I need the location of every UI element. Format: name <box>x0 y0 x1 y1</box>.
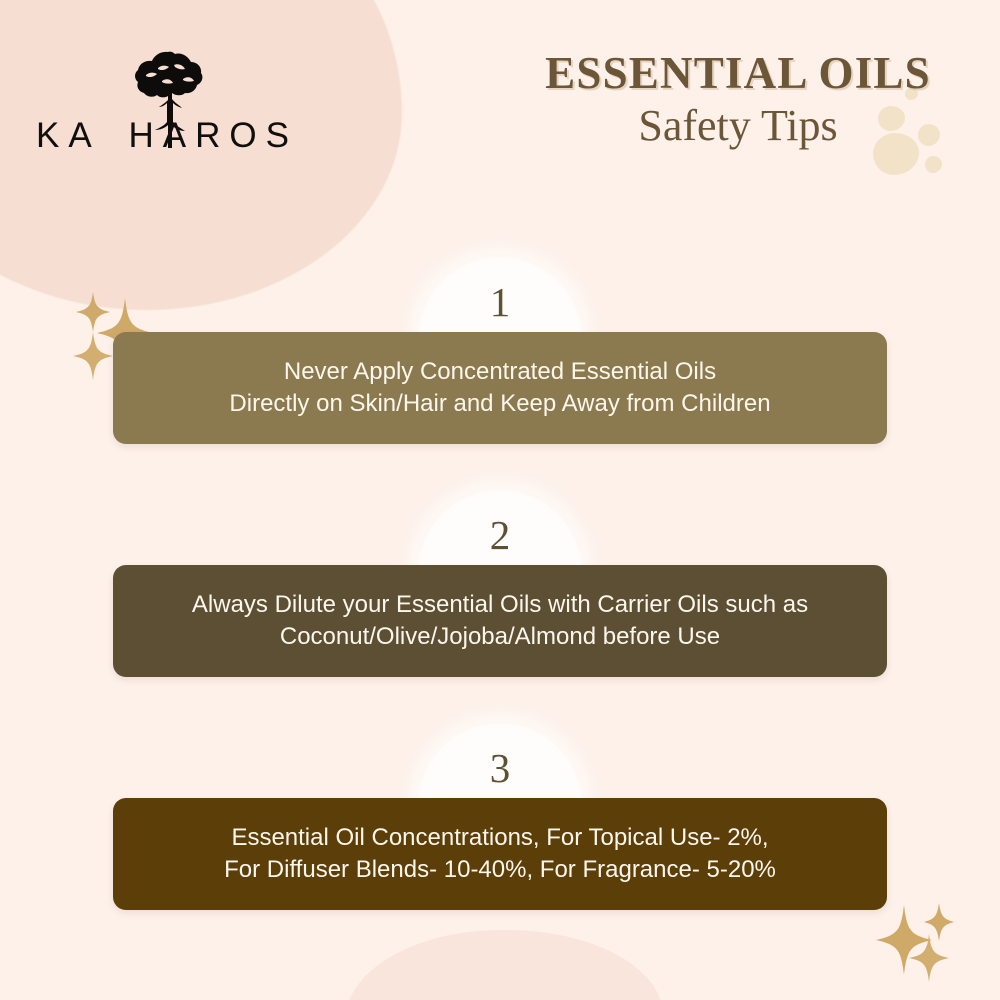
brand-name-part1: KA <box>36 116 98 155</box>
tip-block-3: 3 Essential Oil Concentrations, For Topi… <box>0 724 1000 954</box>
tip-text: Always Dilute your Essential Oils with C… <box>166 589 834 653</box>
tip-block-1: 1 Never Apply Concentrated Essential Oil… <box>0 258 1000 488</box>
infographic-poster: KATHAROS ESSENTIAL OILS Safety Tips 1 Ne… <box>0 0 1000 1000</box>
tip-card: Always Dilute your Essential Oils with C… <box>113 565 887 677</box>
tip-block-2: 2 Always Dilute your Essential Oils with… <box>0 491 1000 721</box>
decorative-dot <box>925 156 942 173</box>
tip-number: 2 <box>440 511 560 559</box>
tip-card: Never Apply Concentrated Essential Oils … <box>113 332 887 444</box>
page-subtitle: Safety Tips <box>528 101 948 152</box>
page-title: ESSENTIAL OILS <box>528 50 948 97</box>
tip-number: 1 <box>440 278 560 326</box>
tip-number: 3 <box>440 744 560 792</box>
header-title-block: ESSENTIAL OILS Safety Tips <box>528 50 948 152</box>
brand-name-tree-gap: T <box>98 116 128 155</box>
brand-logo: KATHAROS <box>36 48 296 163</box>
brand-name-part2: HAROS <box>128 116 297 155</box>
tip-text: Never Apply Concentrated Essential Oils … <box>203 356 796 420</box>
tip-text: Essential Oil Concentrations, For Topica… <box>198 822 802 886</box>
tip-card: Essential Oil Concentrations, For Topica… <box>113 798 887 910</box>
brand-name: KATHAROS <box>36 116 296 156</box>
